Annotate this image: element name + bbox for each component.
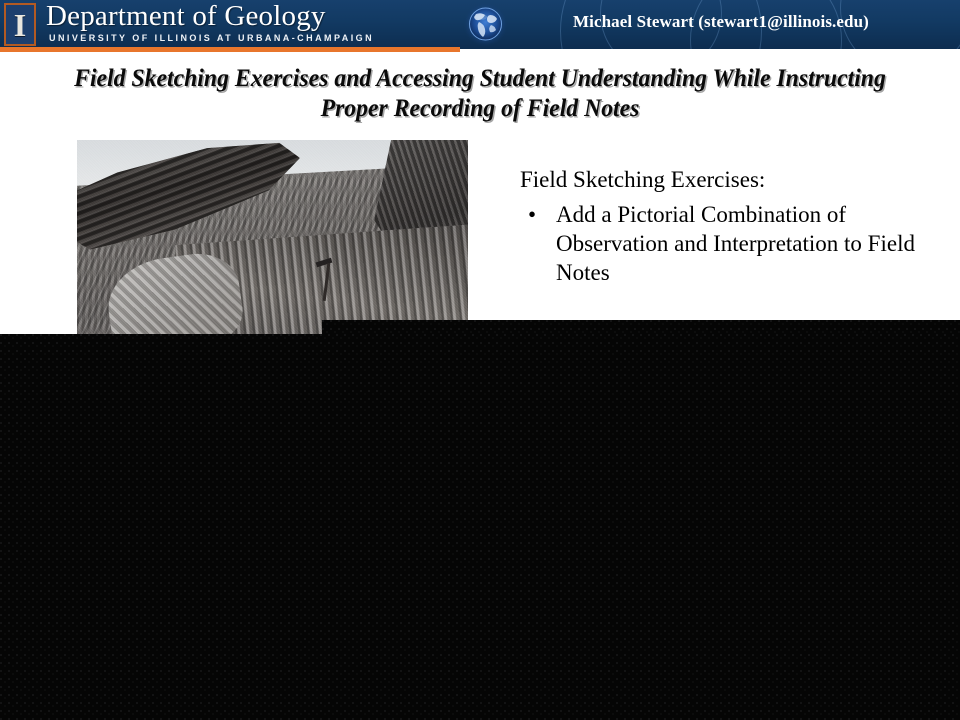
slide-title: Field Sketching Exercises and Accessing … [48,63,911,123]
university-line: UNIVERSITY OF ILLINOIS AT URBANA-CHAMPAI… [49,33,374,44]
globe-icon [463,2,508,47]
bullet-marker-icon: • [528,200,536,229]
bullet-text: Add a Pictorial Combination of Observati… [556,202,915,285]
illinois-block-i-logo: I [4,3,36,46]
photo-grain-overlay [77,140,468,335]
slide-canvas: I Department of Geology UNIVERSITY OF IL… [0,0,960,720]
department-wordmark: Department of Geology UNIVERSITY OF ILLI… [46,0,466,48]
bullet-item: • Add a Pictorial Combination of Observa… [520,200,944,287]
block-i-glyph: I [6,5,34,44]
department-title: Department of Geology [46,1,326,32]
logo-letter: I [14,10,26,40]
presenter-credit: Michael Stewart (stewart1@illinois.edu) [573,12,869,32]
body-text-block: Field Sketching Exercises: • Add a Picto… [520,166,944,287]
black-occlusion-panel-lower [0,334,960,720]
lead-line: Field Sketching Exercises: [520,166,944,194]
bullet-list: • Add a Pictorial Combination of Observa… [520,200,944,287]
outcrop-photo [77,140,468,335]
